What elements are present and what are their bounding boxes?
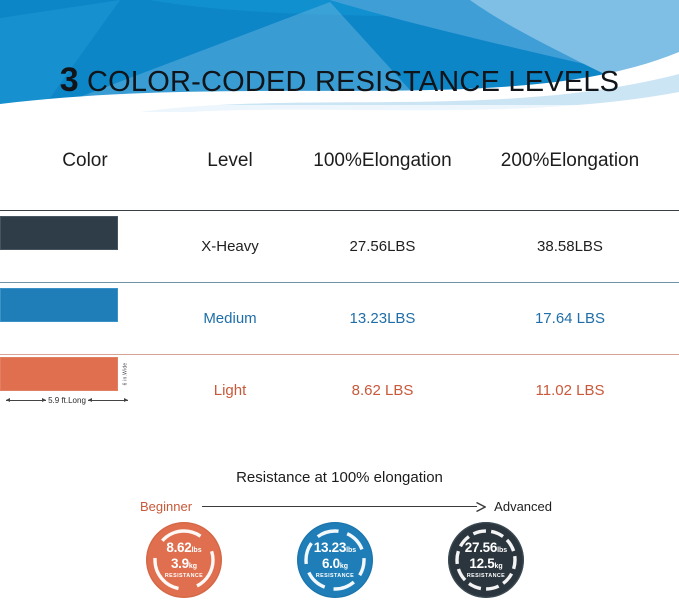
swatch-wrap bbox=[0, 211, 170, 282]
scale-title: Resistance at 100% elongation bbox=[0, 469, 679, 486]
dimension-width-label: 6 in.Wide bbox=[122, 363, 128, 386]
gauge-light: 8.62lbs 3.9kg RESISTANCE bbox=[145, 521, 223, 599]
dimension-arrow-left-icon bbox=[6, 400, 46, 401]
scale-start-label: Beginner bbox=[140, 499, 202, 514]
scale-end-label: Advanced bbox=[486, 499, 552, 514]
level-value: X-Heavy bbox=[201, 238, 259, 255]
header-cell-elongation-200: 200%Elongation bbox=[475, 150, 665, 172]
scale-section: Resistance at 100% elongation Beginner A… bbox=[0, 455, 679, 602]
row-level-cell: Light bbox=[170, 382, 290, 400]
swatch-wrap bbox=[0, 283, 170, 354]
swatch-wrap: 6 in.Wide 5.9 ft.Long bbox=[0, 355, 170, 426]
gauge-medium: 13.23lbs 6.0kg RESISTANCE bbox=[296, 521, 374, 599]
gauge-light-graphic bbox=[145, 521, 223, 599]
dimension-arrow-right-icon bbox=[88, 400, 128, 401]
dimension-length: 5.9 ft.Long bbox=[6, 393, 128, 407]
elongation-200-value: 17.64 LBS bbox=[535, 310, 605, 327]
resistance-table: Color Level 100%Elongation 200%Elongatio… bbox=[0, 112, 679, 426]
row-e100-cell: 13.23LBS bbox=[290, 310, 475, 328]
color-swatch-medium bbox=[0, 288, 118, 322]
row-e100-cell: 27.56LBS bbox=[290, 238, 475, 256]
row-level-cell: X-Heavy bbox=[170, 238, 290, 256]
color-swatch-light bbox=[0, 357, 118, 391]
header-cell-elongation-100: 100%Elongation bbox=[290, 150, 475, 172]
gauge-xheavy-graphic bbox=[447, 521, 525, 599]
row-e200-cell: 17.64 LBS bbox=[475, 310, 665, 328]
header-label-color: Color bbox=[0, 150, 170, 172]
row-color-cell bbox=[0, 211, 170, 282]
table-row: X-Heavy 27.56LBS 38.58LBS bbox=[0, 211, 679, 282]
header-cell-color: Color bbox=[0, 150, 170, 172]
row-e200-cell: 11.02 LBS bbox=[475, 382, 665, 400]
gauge-xheavy: 27.56lbs 12.5kg RESISTANCE bbox=[447, 521, 525, 599]
level-value: Light bbox=[214, 382, 247, 399]
header-label-level: Level bbox=[207, 150, 252, 171]
dimension-length-label: 5.9 ft.Long bbox=[46, 396, 88, 405]
table-header-row: Color Level 100%Elongation 200%Elongatio… bbox=[0, 112, 679, 210]
row-level-cell: Medium bbox=[170, 310, 290, 328]
table-row: 6 in.Wide 5.9 ft.Long Light 8.62 LBS 11.… bbox=[0, 355, 679, 426]
row-color-cell: 6 in.Wide 5.9 ft.Long bbox=[0, 355, 170, 426]
header-cell-level: Level bbox=[170, 150, 290, 172]
color-swatch-xheavy bbox=[0, 216, 118, 250]
gauge-row: 8.62lbs 3.9kg RESISTANCE 13.23lbs 6.0kg … bbox=[0, 521, 679, 602]
elongation-100-value: 13.23LBS bbox=[350, 310, 416, 327]
table-row: Medium 13.23LBS 17.64 LBS bbox=[0, 283, 679, 354]
header-banner: 3 COLOR-CODED RESISTANCE LEVELS bbox=[0, 0, 679, 112]
dimension-width: 6 in.Wide bbox=[118, 357, 132, 391]
row-e100-cell: 8.62 LBS bbox=[290, 382, 475, 400]
elongation-200-value: 38.58LBS bbox=[537, 238, 603, 255]
elongation-100-value: 8.62 LBS bbox=[352, 382, 414, 399]
header-label-elongation-200: 200%Elongation bbox=[501, 150, 639, 171]
header-label-elongation-100: 100%Elongation bbox=[313, 150, 451, 171]
level-value: Medium bbox=[203, 310, 256, 327]
row-e200-cell: 38.58LBS bbox=[475, 238, 665, 256]
scale-arrow-icon bbox=[202, 501, 486, 511]
gauge-medium-graphic bbox=[296, 521, 374, 599]
difficulty-scale: Beginner Advanced bbox=[140, 497, 552, 515]
row-color-cell bbox=[0, 283, 170, 354]
elongation-100-value: 27.56LBS bbox=[350, 238, 416, 255]
infographic-page: 3 COLOR-CODED RESISTANCE LEVELS Color Le… bbox=[0, 0, 679, 602]
banner-graphic bbox=[0, 0, 679, 112]
elongation-200-value: 11.02 LBS bbox=[536, 382, 605, 399]
